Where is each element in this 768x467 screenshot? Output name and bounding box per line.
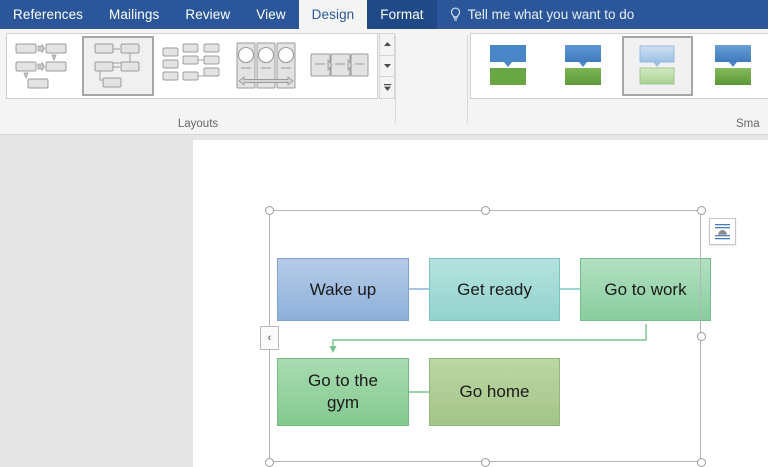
smartart-node-label: Go to the gym [308, 370, 378, 414]
tell-me-label: Tell me what you want to do [468, 7, 635, 22]
tab-view[interactable]: View [243, 0, 298, 29]
layouts-gallery[interactable] [6, 33, 378, 99]
style-thumb-1[interactable] [473, 36, 544, 96]
tab-design[interactable]: Design [299, 0, 368, 29]
group-label-smartart-styles: Sma [736, 118, 766, 130]
ribbon-group-smartart-styles: Sma [468, 29, 768, 135]
text-pane-toggle[interactable]: ‹ [260, 326, 279, 350]
resize-handle-bottom-center[interactable] [481, 458, 490, 467]
layout-thumb-2[interactable] [82, 36, 154, 96]
layout-thumb-5[interactable] [304, 36, 376, 96]
document-page: Wake up Get ready Go to work Go to the g… [193, 140, 768, 467]
smartart-node-go-to-work[interactable]: Go to work [580, 258, 711, 321]
tab-mailings[interactable]: Mailings [96, 0, 172, 29]
smartart-node-go-to-the-gym[interactable]: Go to the gym [277, 358, 409, 426]
smartart-node-label: Go to work [604, 279, 686, 301]
resize-handle-bottom-right[interactable] [697, 458, 706, 467]
gallery-more-button[interactable] [379, 76, 395, 99]
layout-thumb-4[interactable] [230, 36, 302, 96]
tab-review[interactable]: Review [172, 0, 243, 29]
tell-me-search[interactable]: Tell me what you want to do [437, 0, 647, 29]
gallery-scroll-up-button[interactable] [379, 33, 395, 55]
layout-thumb-1[interactable] [8, 36, 80, 96]
resize-handle-top-right[interactable] [697, 206, 706, 215]
style-thumb-2[interactable] [548, 36, 619, 96]
smartart-node-label: Go home [460, 381, 530, 403]
lightbulb-icon [449, 7, 462, 22]
document-workspace: Wake up Get ready Go to work Go to the g… [0, 135, 768, 467]
smartart-node-label: Get ready [457, 279, 532, 301]
chevron-left-icon: ‹ [268, 333, 272, 344]
layout-thumb-3[interactable] [156, 36, 228, 96]
group-label-layouts: Layouts [0, 118, 396, 130]
style-thumb-3[interactable] [622, 36, 693, 96]
resize-handle-top-left[interactable] [265, 206, 274, 215]
smartart-node-wake-up[interactable]: Wake up [277, 258, 409, 321]
tab-references[interactable]: References [0, 0, 96, 29]
tab-format[interactable]: Format [367, 0, 436, 29]
ribbon-group-change-colors: Change Colors [396, 29, 468, 135]
ribbon-tab-bar: References Mailings Review View Design F… [0, 0, 768, 29]
smartart-styles-gallery[interactable] [470, 33, 768, 99]
process-smartart-diagram[interactable]: Wake up Get ready Go to work Go to the g… [269, 210, 701, 462]
smartart-node-go-home[interactable]: Go home [429, 358, 560, 426]
ribbon-body: Layouts Change Colors [0, 29, 768, 135]
layout-options-button[interactable] [709, 218, 736, 245]
smartart-node-get-ready[interactable]: Get ready [429, 258, 560, 321]
smartart-node-label: Wake up [310, 279, 376, 301]
resize-handle-middle-right[interactable] [697, 332, 706, 341]
resize-handle-bottom-left[interactable] [265, 458, 274, 467]
connector-go-to-work-to-go-to-the-gym [329, 324, 646, 353]
style-thumb-4[interactable] [697, 36, 768, 96]
gallery-scroll-down-button[interactable] [379, 55, 395, 77]
text-wrap-icon [714, 223, 731, 240]
ribbon-group-layouts: Layouts [0, 29, 396, 135]
word-window: References Mailings Review View Design F… [0, 0, 768, 467]
layouts-gallery-scrollbar[interactable] [379, 33, 395, 99]
resize-handle-top-center[interactable] [481, 206, 490, 215]
